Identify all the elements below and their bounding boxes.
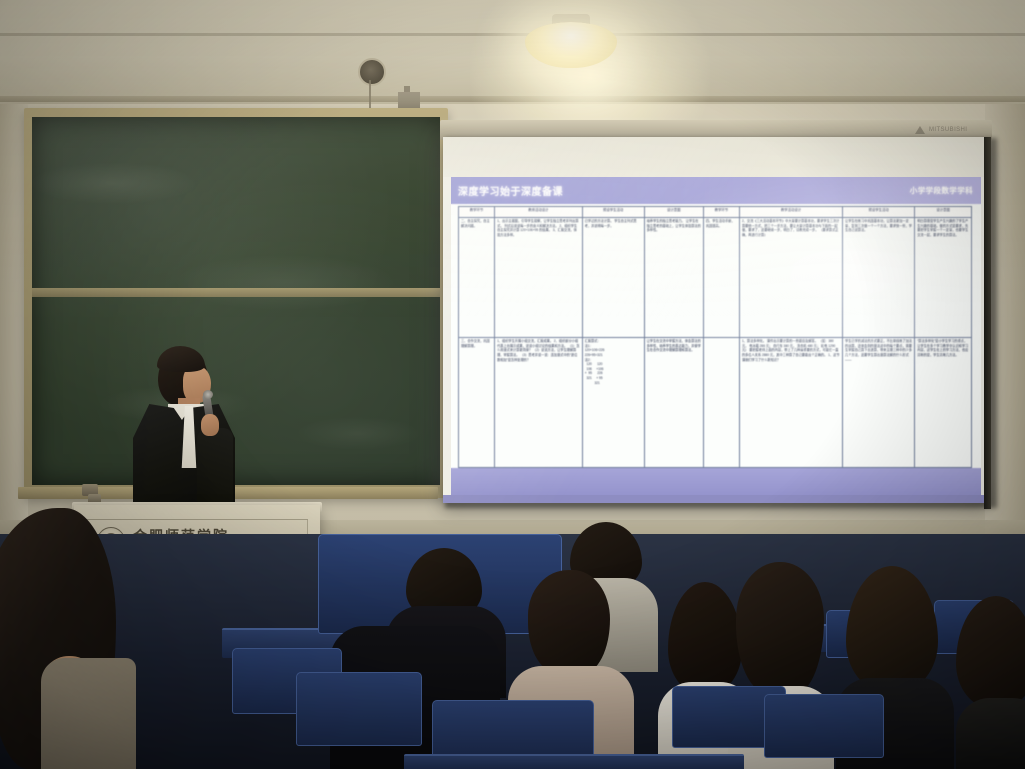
chalk-residue bbox=[32, 117, 440, 485]
slide-subject-tag: 小学学段数学学科 bbox=[910, 185, 973, 196]
col-header-intent-r: 设计意图 bbox=[915, 207, 972, 218]
cell-teacher: 1、组织学生开展小组交流，汇报成果。 2、组织部分小组代表上台展示成果，说说小组… bbox=[495, 338, 583, 468]
blackboard-frame bbox=[24, 108, 448, 498]
col-header-intent-l: 设计意图 bbox=[644, 207, 703, 218]
hair bbox=[956, 596, 1025, 708]
microphone-head bbox=[203, 390, 213, 399]
hair bbox=[736, 562, 824, 694]
table-header-row: 教学环节 教师活动设计 预设学生活动 设计意图 教学环节 教学活动设计 预设学生… bbox=[459, 207, 972, 218]
foreground-person bbox=[0, 508, 146, 769]
screen-bottom-band bbox=[443, 495, 989, 503]
lesson-plan-table: 教学环节 教师活动设计 预设学生活动 设计意图 教学环节 教学活动设计 预设学生… bbox=[458, 206, 972, 468]
col-header-teacher-l: 教师活动设计 bbox=[495, 207, 583, 218]
col-header-teacher-r: 教学活动设计 bbox=[739, 207, 842, 218]
presenter-hand bbox=[201, 414, 219, 436]
cell-intent: “算法多样化”是小学生学习的重点，让学生在多个学习教学中认识和学习内容，这学生在… bbox=[915, 338, 972, 468]
desk-row bbox=[404, 754, 744, 769]
cell-section: 二、自主探究，自主解决问题。 bbox=[459, 218, 495, 338]
brand-triangle-icon bbox=[915, 126, 925, 134]
wall-speaker-icon bbox=[358, 58, 386, 86]
projection-screen: 深度学习始于深度备课 小学学段数学学科 教学环节 教师活动设计 预设学生活动 设 bbox=[443, 137, 989, 503]
cell-section: 四、学生活动手册，巩固提高。 bbox=[703, 218, 739, 338]
cell-intent: 让学生在交流中掌握方法，体会算法的多样性，培养学生的表达能力，并使学生在合作交流… bbox=[644, 338, 703, 468]
slide-title: 深度学习始于深度备课 bbox=[458, 183, 563, 198]
cell-teacher: 2、交流《三大活动基本环节》中大量要计算基本功，要求学生三次计算要统一方式，把三… bbox=[739, 218, 842, 338]
cell-student: 学生已学的减法的方式要正，不比单线练了加法的运算，还体会到的竖法这中的每个要点，… bbox=[843, 338, 915, 468]
cell-student: 让学生在练习中巩固基本功，让算法更加一定量，复到三次做一个一个方法，要求快一些，… bbox=[843, 218, 915, 338]
col-header-section-r: 教学环节 bbox=[703, 207, 739, 218]
ceiling-edge-beam bbox=[0, 96, 1025, 102]
table-row: 三、合作交流，巩固理解算理。 1、组织学生开展小组交流，汇报成果。 2、组织部分… bbox=[459, 338, 972, 468]
cell-section: 三、合作交流，巩固理解算理。 bbox=[459, 338, 495, 468]
hair bbox=[528, 570, 610, 674]
cell-student-calc: 汇报算式： 法1： 120+106=226 226+95=321 法2： 120… bbox=[582, 338, 644, 468]
cell-intent: 明白算理是学生产生兴趣的了学生产生兴趣的基础。做的方式是要求，先要把学生掌握一个… bbox=[915, 218, 972, 338]
cell-teacher: 1、出示主题图，引导学生观察，让学生独立思考并列出算式。 列式后说说每一步的含义… bbox=[495, 218, 583, 338]
presenter-arm bbox=[197, 428, 233, 504]
hair bbox=[846, 566, 938, 692]
ceiling-seam bbox=[0, 33, 1025, 36]
col-header-section-l: 教学环节 bbox=[459, 207, 495, 218]
chair-back bbox=[296, 672, 422, 746]
screen-blank-margin bbox=[443, 137, 989, 177]
foreground-sweater-sleeve bbox=[41, 658, 136, 769]
cell-student: 已学过的方法计算。 学生自主列式思考，并说明每一步。 bbox=[582, 218, 644, 338]
audience-member bbox=[956, 596, 1025, 769]
slide-footer-band bbox=[451, 468, 981, 495]
cell-teacher: 1、算法多样化。 课件出示要计算的一些题目及解答。 （如：380 元， 电冰箱 … bbox=[739, 338, 842, 468]
cell-section bbox=[703, 338, 739, 468]
table-row: 二、自主探究，自主解决问题。 1、出示主题图，引导学生观察，让学生独立思考并列出… bbox=[459, 218, 972, 338]
presentation-slide: 深度学习始于深度备课 小学学段数学学科 教学环节 教师活动设计 预设学生活动 设 bbox=[451, 177, 981, 495]
classroom-lecture-photo: MITSUBISHI 深度学习始于深度备课 小学学段数学学科 教学环节 bbox=[0, 0, 1025, 769]
chair-back bbox=[764, 694, 884, 758]
torso bbox=[956, 698, 1025, 769]
cell-intent: 培养学生的独立思考能力。 让学生在独立思考的基础上，让学生体验算法的多样性。 bbox=[644, 218, 703, 338]
blackboard-surface bbox=[32, 117, 440, 485]
brand-label: MITSUBISHI bbox=[929, 127, 967, 133]
mitsubishi-logo: MITSUBISHI bbox=[915, 126, 967, 134]
ceiling bbox=[0, 0, 1025, 104]
screen-right-edge bbox=[984, 137, 991, 509]
col-header-student-r: 预设学生活动 bbox=[843, 207, 915, 218]
slide-body: 教学环节 教师活动设计 预设学生活动 设计意图 教学环节 教学活动设计 预设学生… bbox=[451, 204, 981, 468]
slide-title-bar: 深度学习始于深度备课 小学学段数学学科 bbox=[451, 177, 981, 204]
col-header-student-l: 预设学生活动 bbox=[582, 207, 644, 218]
blackboard-slider-rail[interactable] bbox=[32, 288, 440, 297]
